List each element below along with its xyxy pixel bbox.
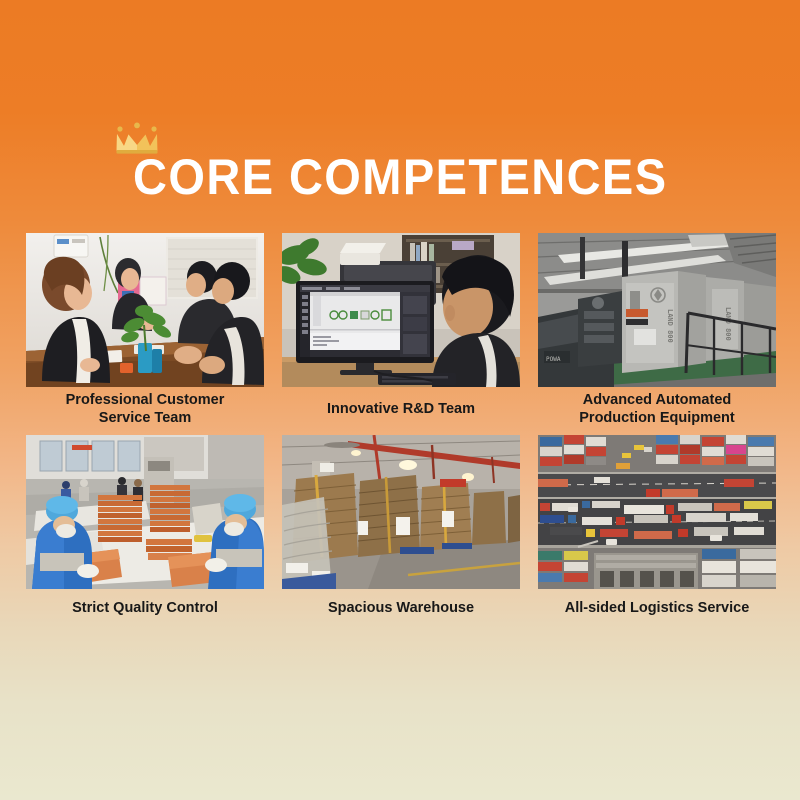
caption-line-1: All-sided Logistics Service xyxy=(565,599,750,618)
photo-quality-inspection[interactable] xyxy=(26,435,264,589)
svg-text:LAND 800: LAND 800 xyxy=(666,309,674,343)
competence-caption: Spacious Warehouse xyxy=(282,589,520,625)
competence-cell[interactable]: Professional Customer Service Team xyxy=(26,233,264,429)
caption-line-2: Service Team xyxy=(99,410,191,426)
competence-cell[interactable]: Strict Quality Control xyxy=(26,435,264,625)
competence-caption: Advanced Automated Production Equipment xyxy=(538,387,776,429)
photo-container-port[interactable] xyxy=(538,435,776,589)
photo-designer-at-monitor[interactable] xyxy=(282,233,520,387)
competence-cell[interactable]: Innovative R&D Team xyxy=(282,233,520,429)
svg-text:LAND 800: LAND 800 xyxy=(724,307,732,341)
svg-text:POWA: POWA xyxy=(546,356,561,363)
photo-warehouse[interactable] xyxy=(282,435,520,589)
competence-cell[interactable]: POWA LAND 800 LAND 800 xyxy=(538,233,776,429)
photo-printing-press[interactable]: POWA LAND 800 LAND 800 xyxy=(538,233,776,387)
caption-line-1: Innovative R&D Team xyxy=(327,400,475,419)
grid-row: Strict Quality Control xyxy=(26,435,776,625)
caption-line-1: Professional Customer xyxy=(66,392,225,408)
competence-caption: All-sided Logistics Service xyxy=(538,589,776,625)
grid-row: Professional Customer Service Team xyxy=(26,233,776,429)
caption-line-1: Advanced Automated xyxy=(583,392,732,408)
page-title-area: CORE COMPETENCES xyxy=(0,152,800,202)
core-competences-banner: CORE COMPETENCES xyxy=(0,0,800,800)
competence-caption: Professional Customer Service Team xyxy=(26,387,264,429)
caption-line-1: Spacious Warehouse xyxy=(328,599,474,618)
competence-cell[interactable]: All-sided Logistics Service xyxy=(538,435,776,625)
photo-office-meeting[interactable] xyxy=(26,233,264,387)
competence-caption: Innovative R&D Team xyxy=(282,387,520,429)
caption-line-2: Production Equipment xyxy=(579,410,734,426)
caption-line-1: Strict Quality Control xyxy=(72,599,218,618)
competences-grid: Professional Customer Service Team xyxy=(26,233,776,625)
competence-cell[interactable]: Spacious Warehouse xyxy=(282,435,520,625)
competence-caption: Strict Quality Control xyxy=(26,589,264,625)
page-title: CORE COMPETENCES xyxy=(133,152,667,202)
